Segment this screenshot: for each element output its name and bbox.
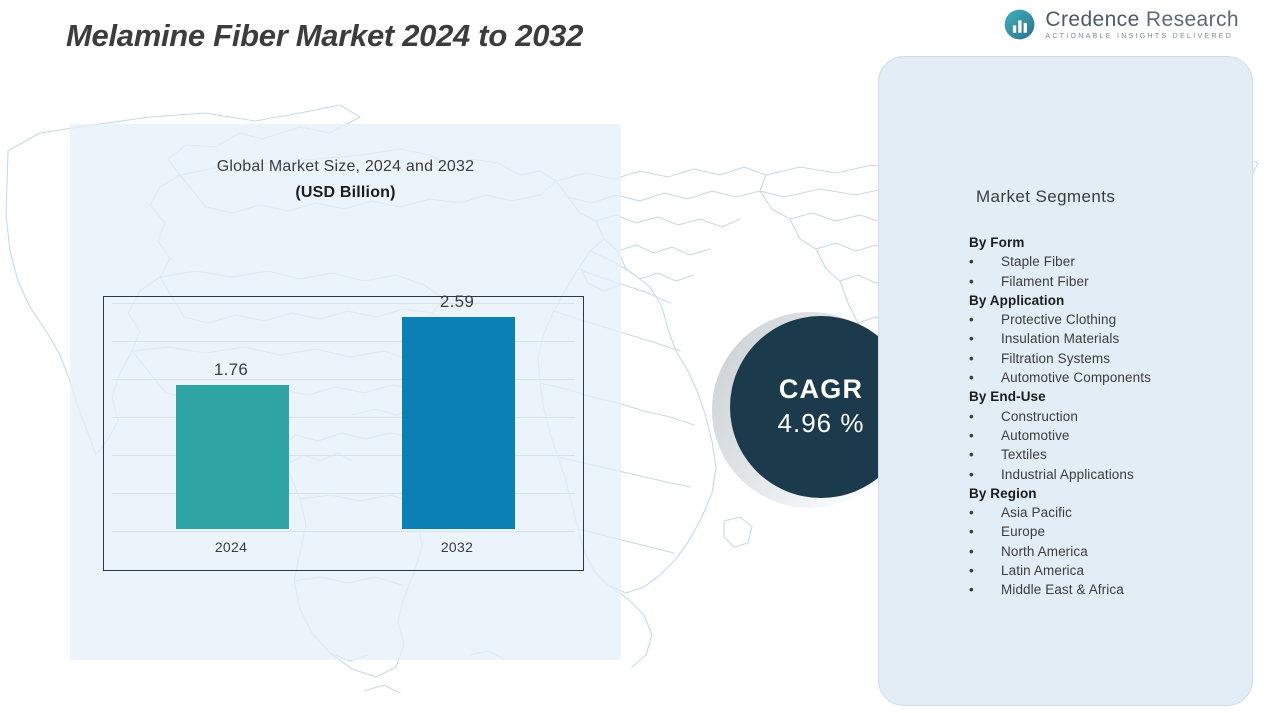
segment-item-label: Construction (1001, 407, 1078, 426)
bar-category-2024: 2024 (161, 539, 301, 555)
segment-item-label: Asia Pacific (1001, 503, 1072, 522)
segment-item: •Textiles (969, 445, 1254, 464)
market-segments-list: By Form•Staple Fiber•Filament FiberBy Ap… (969, 233, 1254, 600)
segment-item-label: Insulation Materials (1001, 329, 1119, 348)
bullet-icon: • (969, 368, 1001, 387)
segment-item-label: Staple Fiber (1001, 252, 1075, 271)
segment-item: •Insulation Materials (969, 329, 1254, 348)
segment-item: •Asia Pacific (969, 503, 1254, 522)
infographic-root: Melamine Fiber Market 2024 to 2032 Crede… (0, 0, 1267, 713)
bullet-icon: • (969, 310, 1001, 329)
cagr-label: CAGR (779, 374, 863, 405)
bar-2024 (176, 385, 289, 529)
bar-value-2024: 1.76 (161, 360, 301, 380)
segment-item: •Automotive (969, 426, 1254, 445)
bullet-icon: • (969, 252, 1001, 271)
page-title: Melamine Fiber Market 2024 to 2032 (66, 18, 583, 54)
segment-group-title: By Region (969, 484, 1254, 503)
bar-chart-plot (103, 296, 584, 571)
segment-group-title: By End-Use (969, 387, 1254, 406)
segment-item: •Automotive Components (969, 368, 1254, 387)
bullet-icon: • (969, 503, 1001, 522)
segment-item: •Construction (969, 407, 1254, 426)
segment-item: •Europe (969, 522, 1254, 541)
segment-item: •Latin America (969, 561, 1254, 580)
bullet-icon: • (969, 445, 1001, 464)
segment-item: •Protective Clothing (969, 310, 1254, 329)
brand-name-first: Credence (1045, 8, 1139, 31)
bullet-icon: • (969, 407, 1001, 426)
segment-group-title: By Form (969, 233, 1254, 252)
segment-item: •Filtration Systems (969, 349, 1254, 368)
segment-item: •North America (969, 542, 1254, 561)
bar-category-2032: 2032 (387, 539, 527, 555)
bullet-icon: • (969, 561, 1001, 580)
bar-2032 (402, 317, 515, 529)
cagr-value: 4.96 % (778, 407, 865, 440)
segment-item-label: Automotive Components (1001, 368, 1151, 387)
segment-item-label: Middle East & Africa (1001, 580, 1124, 599)
brand-logo: Credence Research Actionable Insights De… (1003, 8, 1239, 41)
segment-item-label: Europe (1001, 522, 1045, 541)
chart-heading: Global Market Size, 2024 and 2032 (70, 158, 621, 176)
brand-name: Credence Research (1045, 9, 1239, 31)
segment-item-label: Filtration Systems (1001, 349, 1110, 368)
segment-item-label: Automotive (1001, 426, 1070, 445)
bar-chart-circle-icon (1003, 8, 1036, 41)
segment-item: •Staple Fiber (969, 252, 1254, 271)
brand-tagline: Actionable Insights Delivered (1045, 33, 1239, 40)
chart-subheading: (USD Billion) (70, 184, 621, 202)
brand-wordmark: Credence Research Actionable Insights De… (1045, 9, 1239, 40)
bullet-icon: • (969, 580, 1001, 599)
segment-item-label: Industrial Applications (1001, 465, 1134, 484)
segment-item: •Middle East & Africa (969, 580, 1254, 599)
market-segments-title: Market Segments (976, 187, 1115, 207)
segment-item-label: Textiles (1001, 445, 1047, 464)
segment-item-label: Filament Fiber (1001, 272, 1089, 291)
segment-item: •Filament Fiber (969, 272, 1254, 291)
segment-item-label: Protective Clothing (1001, 310, 1116, 329)
market-segments-panel: Market Segments By Form•Staple Fiber•Fil… (878, 56, 1253, 706)
bar-value-2032: 2.59 (387, 292, 527, 312)
bullet-icon: • (969, 465, 1001, 484)
bullet-icon: • (969, 426, 1001, 445)
bullet-icon: • (969, 522, 1001, 541)
segment-item-label: Latin America (1001, 561, 1084, 580)
bullet-icon: • (969, 272, 1001, 291)
bullet-icon: • (969, 349, 1001, 368)
bullet-icon: • (969, 329, 1001, 348)
brand-name-second: Research (1146, 8, 1239, 31)
bullet-icon: • (969, 542, 1001, 561)
segment-item: •Industrial Applications (969, 465, 1254, 484)
segment-item-label: North America (1001, 542, 1088, 561)
gridline (112, 531, 575, 532)
segment-group-title: By Application (969, 291, 1254, 310)
